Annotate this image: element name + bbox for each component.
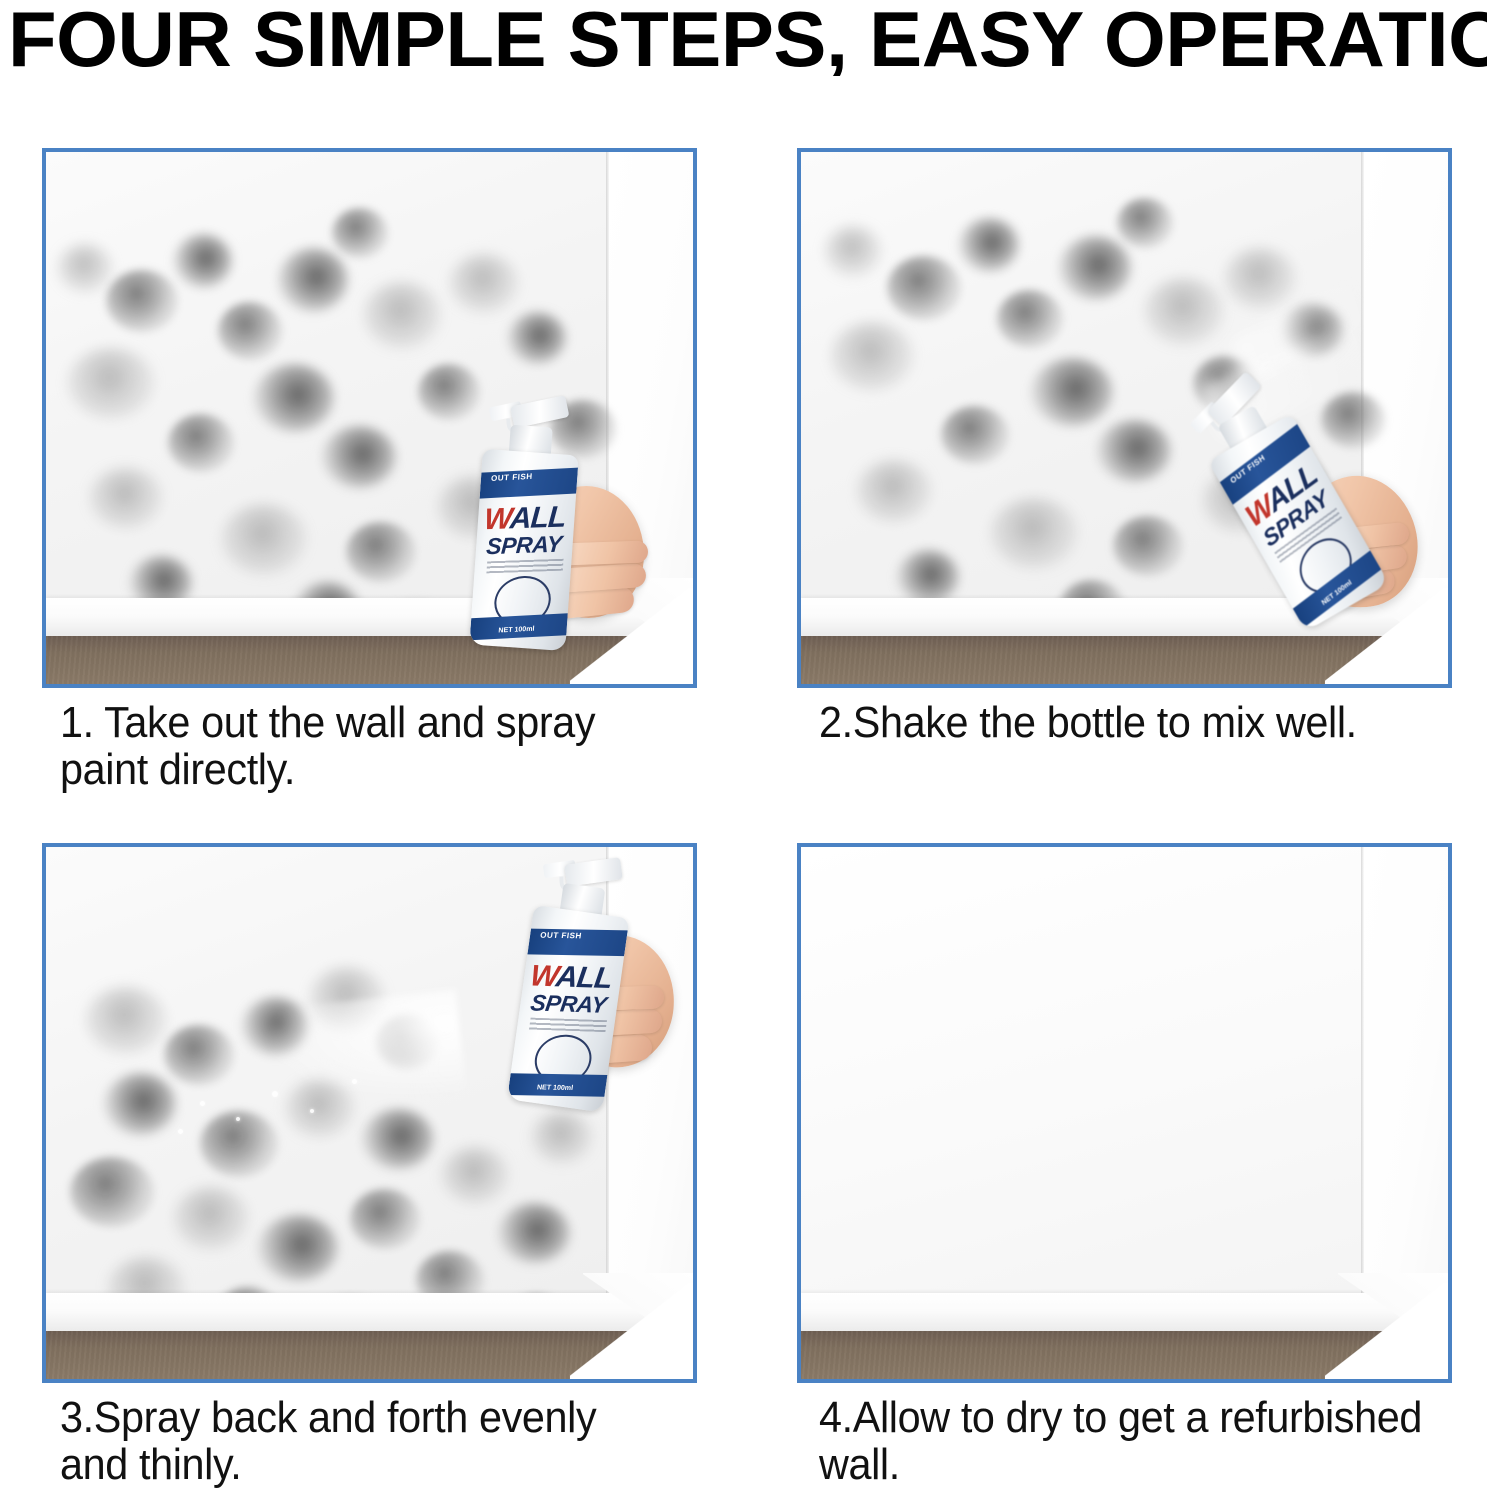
mold-blotch bbox=[258, 1215, 338, 1281]
mold-blotch bbox=[350, 1189, 420, 1249]
mold-blotch bbox=[164, 1025, 234, 1085]
mold-blotch bbox=[1031, 358, 1113, 426]
step-4-caption: 4.Allow to dry to get a refurbished wall… bbox=[819, 1395, 1477, 1488]
mold-blotch bbox=[941, 406, 1009, 464]
mold-blotch bbox=[532, 1111, 592, 1163]
mold-blotch bbox=[86, 987, 166, 1053]
mold-blotch bbox=[68, 348, 154, 418]
mold-blotch bbox=[362, 1109, 434, 1169]
mold-blotch bbox=[254, 364, 334, 432]
step-1: OUT FISH WALL SPRAY NET 100ml 1. Take ou… bbox=[42, 148, 697, 688]
mold-blotch bbox=[1225, 248, 1295, 308]
mold-blotch bbox=[104, 1073, 176, 1135]
scene-clean-wall bbox=[801, 847, 1448, 1379]
finger bbox=[560, 540, 649, 565]
mold-blotch bbox=[168, 414, 234, 472]
mold-blotch bbox=[1145, 278, 1223, 344]
mist-droplet bbox=[352, 1079, 357, 1084]
wood-floor bbox=[801, 1331, 1448, 1379]
mold-blotch bbox=[222, 504, 306, 574]
mold-blotch bbox=[857, 460, 931, 522]
product-name-line2: SPRAY bbox=[529, 992, 608, 1017]
step-1-caption: 1. Take out the wall and spray paint dir… bbox=[60, 700, 718, 793]
mold-blotch bbox=[1117, 198, 1173, 248]
steps-grid: OUT FISH WALL SPRAY NET 100ml 1. Take ou… bbox=[0, 140, 1487, 1500]
mold-blotch bbox=[831, 322, 913, 390]
mold-blotch bbox=[70, 1157, 154, 1227]
mist-droplet bbox=[200, 1101, 205, 1106]
mold-blotch bbox=[278, 248, 348, 312]
infographic-page: FOUR SIMPLE STEPS, EASY OPERATION bbox=[0, 0, 1487, 1500]
mold-blotch bbox=[174, 234, 232, 288]
step-4-image-panel bbox=[797, 843, 1452, 1383]
step-3-caption: 3.Spray back and forth evenly and thinly… bbox=[60, 1395, 718, 1488]
mold-blotch bbox=[310, 967, 384, 1029]
scene-spraying-wall: OUT FISH WALL SPRAY NET 100ml bbox=[46, 847, 693, 1379]
mold-blotch bbox=[1321, 392, 1385, 448]
wood-floor bbox=[801, 636, 1448, 684]
mold-blotch bbox=[174, 1187, 248, 1249]
mold-blotch bbox=[442, 1147, 508, 1203]
step-3: OUT FISH WALL SPRAY NET 100ml 3.Spray ba… bbox=[42, 843, 697, 1383]
product-net-volume: NET 100ml bbox=[536, 1084, 573, 1092]
bottle-body: OUT FISH WALL SPRAY NET 100ml bbox=[469, 449, 578, 651]
scene-moldy-wall-2: OUT FISH WALL SPRAY NET 100ml bbox=[801, 152, 1448, 684]
wood-floor bbox=[46, 1331, 693, 1379]
spray-bottle: OUT FISH WALL SPRAY NET 100ml bbox=[469, 395, 582, 651]
label-fineprint bbox=[529, 1018, 607, 1033]
mold-blotch bbox=[997, 290, 1063, 348]
mold-blotch bbox=[90, 468, 162, 528]
page-title: FOUR SIMPLE STEPS, EASY OPERATION bbox=[8, 2, 1487, 76]
mold-blotch bbox=[498, 1203, 570, 1263]
mold-blotch bbox=[1097, 420, 1171, 482]
product-name-line2: SPRAY bbox=[485, 533, 562, 559]
mist-droplet bbox=[272, 1091, 278, 1097]
mold-blotch bbox=[450, 254, 518, 312]
mold-blotch bbox=[218, 302, 282, 360]
mold-blotch bbox=[364, 282, 440, 348]
mold-blotch bbox=[991, 498, 1077, 568]
mold-blotch bbox=[1059, 236, 1131, 300]
mold-blotch bbox=[418, 364, 480, 420]
step-3-image-panel: OUT FISH WALL SPRAY NET 100ml bbox=[42, 843, 697, 1383]
mold-blotch bbox=[242, 997, 308, 1055]
mold-blotch bbox=[106, 270, 178, 332]
mold-blotch bbox=[1113, 516, 1183, 576]
mist-droplet bbox=[178, 1129, 183, 1134]
step-2: OUT FISH WALL SPRAY NET 100ml 2.Shake th… bbox=[797, 148, 1452, 688]
product-brand: OUT FISH bbox=[540, 931, 583, 941]
wood-floor bbox=[46, 636, 693, 684]
mold-blotch bbox=[332, 208, 388, 258]
step-2-caption: 2.Shake the bottle to mix well. bbox=[819, 700, 1477, 747]
mold-blotch bbox=[887, 256, 961, 320]
mold-blotch bbox=[200, 1111, 278, 1177]
mold-blotch bbox=[322, 426, 396, 488]
step-2-image-panel: OUT FISH WALL SPRAY NET 100ml bbox=[797, 148, 1452, 688]
step-4: 4.Allow to dry to get a refurbished wall… bbox=[797, 843, 1452, 1383]
baseboard bbox=[801, 1293, 1448, 1333]
product-name-initial: W bbox=[483, 502, 511, 536]
label-fineprint bbox=[486, 559, 563, 574]
baseboard bbox=[46, 1293, 693, 1333]
mold-blotch bbox=[58, 244, 112, 292]
mold-blotch bbox=[376, 1015, 438, 1069]
mold-blotch bbox=[286, 1079, 354, 1137]
mold-blotch bbox=[508, 312, 566, 364]
mold-blotch bbox=[897, 550, 959, 604]
mold-blotch bbox=[959, 218, 1019, 272]
step-1-image-panel: OUT FISH WALL SPRAY NET 100ml bbox=[42, 148, 697, 688]
scene-moldy-wall-1: OUT FISH WALL SPRAY NET 100ml bbox=[46, 152, 693, 684]
mold-blotch bbox=[825, 226, 881, 276]
mold-blotch bbox=[346, 522, 416, 582]
